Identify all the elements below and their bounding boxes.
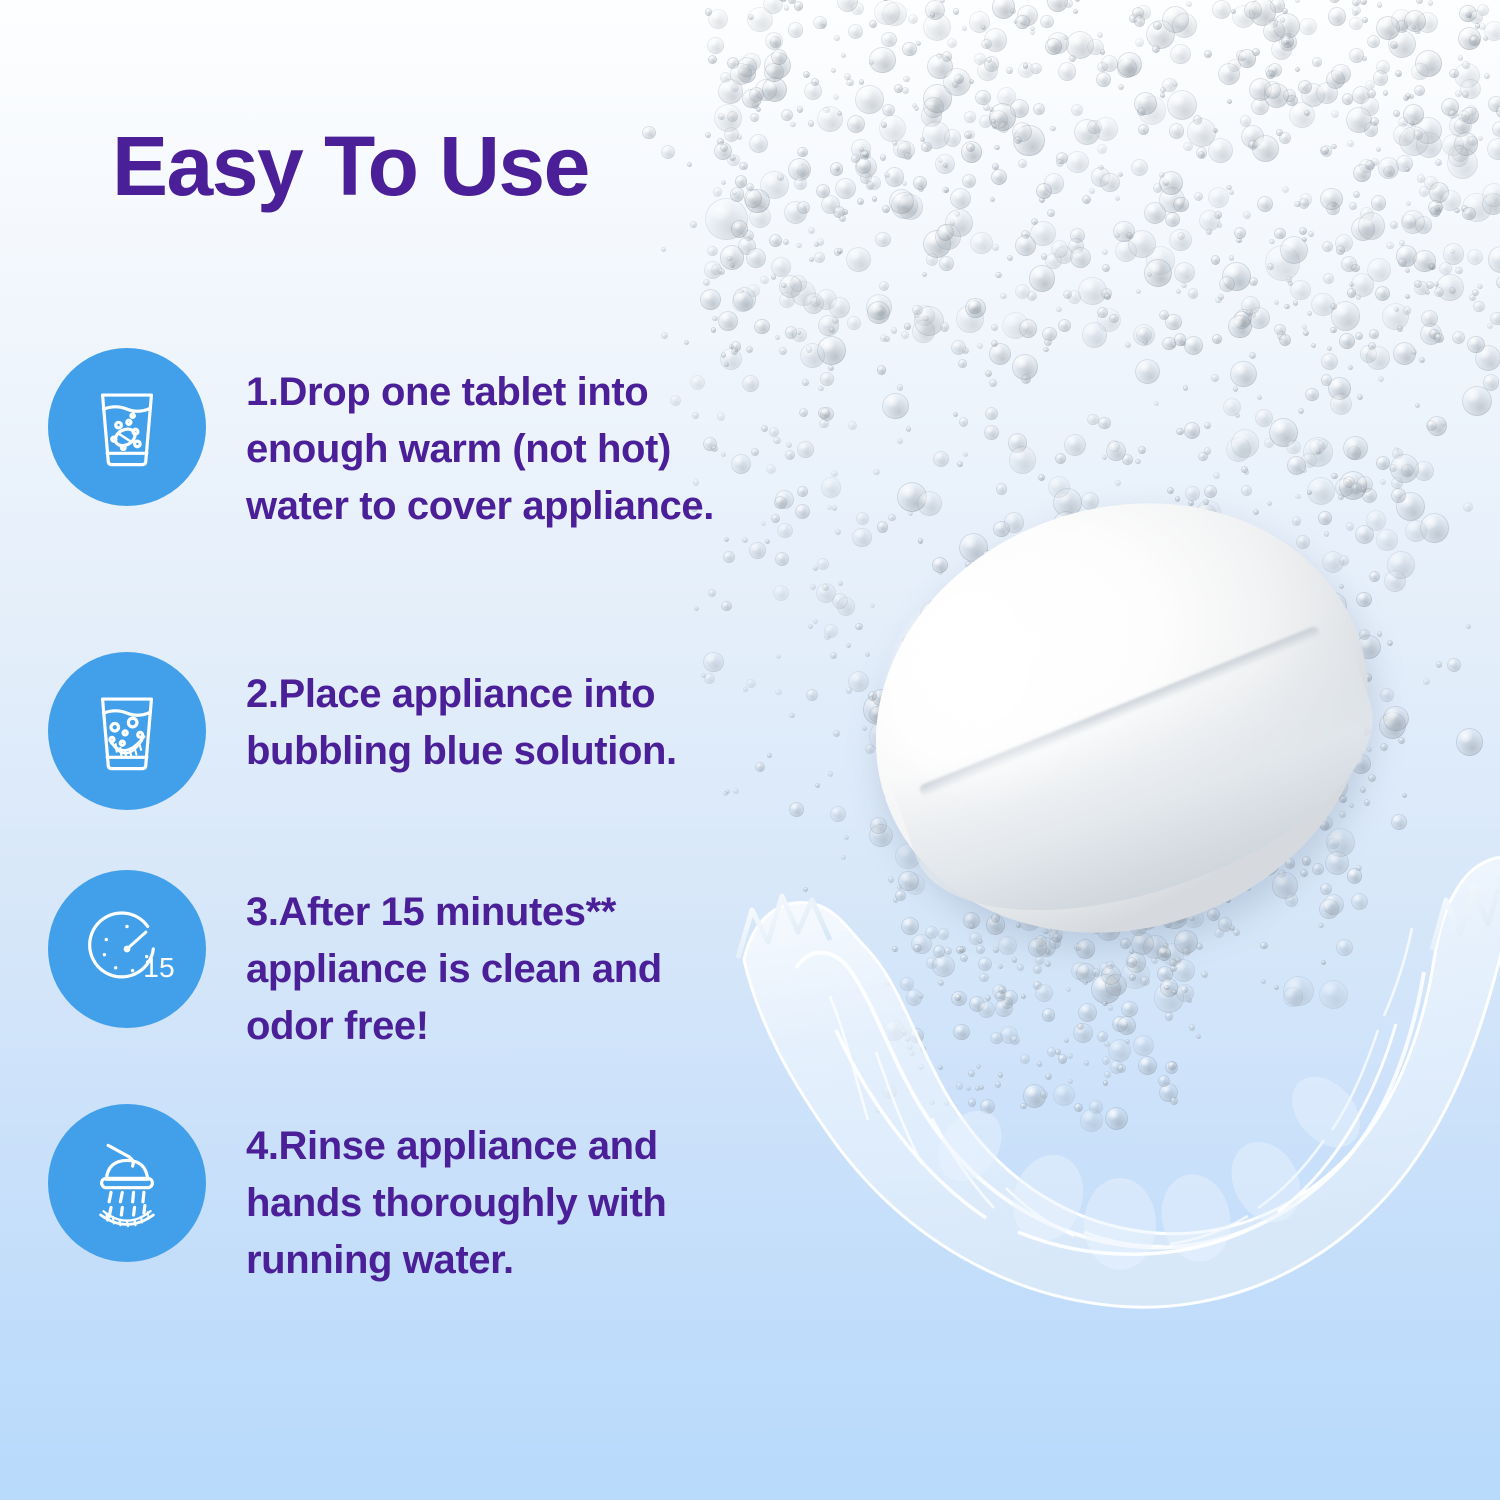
bubble [1219,682,1245,708]
bubble [803,71,810,78]
bubble [991,324,998,331]
bubble [1280,236,1308,264]
bubble [846,247,871,272]
bubble [834,35,839,40]
bubble [1393,124,1415,146]
bubble [1179,847,1184,852]
bubble [953,717,966,730]
bubble [1115,240,1137,262]
bubble [1319,980,1348,1009]
bubble [1032,729,1038,735]
bubble [1160,826,1180,846]
bubble [1104,1071,1110,1077]
bubble [962,849,983,870]
bubble [1355,696,1363,704]
bubble [1016,883,1030,897]
bubble [1383,90,1388,95]
bubble [1248,711,1269,732]
bubble [1326,202,1340,216]
bubble [1299,198,1309,208]
bubble [1126,603,1132,609]
bubble [1266,70,1275,79]
bubble [1461,107,1478,124]
bubble [1165,878,1170,883]
bubble [1405,268,1410,273]
bubble [1089,188,1095,194]
bubble [1283,89,1295,101]
bubble [1277,331,1286,340]
bubble [1007,872,1021,886]
bubble [1347,140,1353,146]
bubble [943,621,954,632]
bubble [1136,908,1158,930]
step-item-1: 1.Drop one tablet into enough warm (not … [48,348,751,536]
bubble [1167,806,1173,812]
bubble [966,143,975,152]
bubble [901,331,908,338]
bubble [1086,912,1102,928]
bubble [884,791,893,800]
bubble [1126,852,1133,859]
bubble [1108,1005,1114,1011]
bubble [1073,920,1082,929]
bubble [1238,740,1243,745]
bubble [1121,1001,1138,1018]
tablet-score-line [918,626,1321,798]
bubble [1349,803,1354,808]
bubble [945,209,973,237]
bubble [1090,805,1097,812]
bubble [956,946,964,954]
bubble [869,47,895,73]
bubble [959,946,966,953]
bubble [888,514,895,521]
bubble [828,365,834,371]
bubble [1208,560,1214,566]
bubble [795,504,810,519]
bubble [1415,216,1433,234]
bubble [1249,695,1258,704]
bubble [1327,838,1339,850]
bubble [1285,858,1296,869]
bubble [1264,700,1285,721]
bubble [1172,81,1178,87]
bubble [1228,59,1241,72]
bubble [1136,327,1152,343]
bubble [1396,492,1425,521]
bubble [789,713,794,718]
bubble [950,188,971,209]
bubble [884,172,890,178]
bubble [1264,81,1282,99]
bubble [1160,978,1179,997]
bubble [1073,902,1088,917]
bubble [1194,724,1203,733]
bubble [1461,205,1468,212]
bubble [1097,307,1108,318]
bubble [875,1108,880,1113]
bubble [1055,624,1060,629]
bubble [1483,36,1488,41]
bubble [1462,386,1492,416]
bubble [1302,856,1312,866]
bubble [1267,619,1275,627]
bubble [1044,795,1052,803]
bubble [914,106,919,111]
bubble [1173,533,1194,554]
bubble [898,871,918,891]
bubble [1077,1023,1084,1030]
bubble [1153,21,1162,30]
bubble [832,317,839,324]
bubble [1352,11,1357,16]
bubble [1133,653,1161,681]
bubble [1352,86,1370,104]
bubble [1411,349,1417,355]
bubble [1046,811,1071,836]
bubble [1015,15,1030,30]
bubble [1071,834,1082,845]
bubble [1302,324,1308,330]
bubble [1447,148,1478,179]
bubble [1299,227,1307,235]
bubble [1239,810,1244,815]
bubble [1179,749,1184,754]
bubble [1174,262,1195,283]
bubble [1327,750,1345,768]
bubble [923,13,951,41]
bubble [1463,502,1473,512]
bubble [1229,574,1251,596]
bubble [1287,456,1306,475]
bubble [1037,822,1053,838]
bubble [1126,952,1147,973]
bubble [1348,365,1353,370]
bubble [1209,780,1214,785]
bubble [918,766,941,789]
bubble [953,813,973,833]
bubble [1441,421,1446,426]
bubble [1060,803,1065,808]
bubble [813,619,818,624]
bubble [1157,946,1172,961]
bubble [1087,39,1104,56]
bubble [1364,799,1371,806]
bubble [1068,751,1080,763]
bubble [1131,159,1148,176]
bubble [1347,446,1361,460]
bubble [1211,255,1221,265]
bubble [808,624,813,629]
bubble [1369,571,1380,582]
bubble [1045,612,1051,618]
bubble [885,980,890,985]
step-3-text: 3.After 15 minutes** appliance is clean … [246,870,751,1056]
bubble [1285,893,1299,907]
bubble [1223,698,1241,716]
bubble [1359,159,1373,173]
bubble [1209,845,1231,867]
bubble [1187,998,1192,1003]
bubble [1321,353,1338,370]
bubble [1228,315,1251,338]
bubble [1379,712,1406,739]
bubble [1055,843,1065,853]
bubble [1125,848,1136,859]
bubble [1029,265,1056,292]
bubble [1048,543,1071,566]
bubble [1192,863,1203,874]
bubble [1196,706,1217,727]
bubble [1083,597,1089,603]
bubble [1097,1031,1108,1042]
bubble [1050,126,1055,131]
bubble [797,486,808,497]
bubble [1052,674,1059,681]
bubble [834,248,842,256]
bubble [1010,8,1016,14]
bubble [995,991,1006,1002]
bubble [1201,669,1210,678]
bubble [1239,709,1250,720]
bubble [1050,924,1059,933]
bubble [1430,206,1441,217]
bubble [1394,447,1399,452]
bubble [1164,837,1188,861]
bubble [1313,585,1320,592]
bubble [901,1029,908,1036]
bubble [1253,555,1264,566]
page-title: Easy To Use [112,124,589,208]
bubble [1359,724,1371,736]
bubble [922,742,932,752]
bubble [1223,398,1241,416]
bubble [891,192,918,219]
bubble [1269,418,1298,447]
bubble [1176,572,1181,577]
bubble [1311,718,1340,747]
bubble [928,602,934,608]
bubble [1121,961,1150,990]
bubble [1068,1079,1073,1084]
bubble [1204,485,1217,498]
bubble [942,51,952,61]
bubble [796,243,801,248]
bubble [1036,183,1052,199]
bubble [966,741,978,753]
bubble [1175,957,1180,962]
bubble [1264,784,1270,790]
bubble [979,115,992,128]
bubble [1246,755,1255,764]
bubble [1064,434,1086,456]
bubble [1041,253,1047,259]
bubble [1080,922,1085,927]
bubble [1271,39,1293,61]
bubble [1290,280,1311,301]
bubble [991,119,996,124]
bubble [885,167,905,187]
bubble [833,730,840,737]
bubble [1240,115,1251,126]
bubble [1202,603,1208,609]
bubble [1289,102,1315,128]
bubble [1434,282,1439,287]
bubble [918,1064,924,1070]
bubble [1405,294,1410,299]
bubble [1128,230,1156,258]
bubble [1048,805,1053,810]
bubble [1129,974,1136,981]
bubble [1414,85,1425,96]
bubble [909,1028,924,1043]
bubble [1071,694,1079,702]
bubble [912,777,929,794]
bubble [1362,488,1377,503]
bubble [1343,436,1367,460]
bubble [1059,761,1071,773]
bubble [969,932,982,945]
bubble [1018,159,1027,168]
bubble [1078,1003,1097,1022]
bubble [1151,535,1174,558]
bubble [1334,720,1339,725]
bubble [1143,896,1149,902]
bubble [1001,997,1013,1009]
bubble [1012,561,1032,581]
bubble [1204,447,1211,454]
bubble [991,847,1018,874]
bubble [1063,290,1072,299]
bubble [1329,0,1340,3]
bubble [1075,728,1096,749]
bubble [906,426,912,432]
bubble [1370,117,1379,126]
bubble [1246,637,1252,643]
bubble [1126,909,1134,917]
bubble [1045,961,1051,967]
bubble [1234,227,1246,239]
bubble [1213,722,1224,733]
bubble [1064,0,1073,8]
bubble [1346,522,1355,531]
bubble [1039,603,1049,613]
bubble [1096,72,1111,87]
bubble [1063,856,1079,872]
bubble [1170,1097,1178,1105]
bubble [1135,359,1160,384]
bubble [1052,933,1062,943]
bubble [974,53,986,65]
bubble [847,316,860,329]
bubble [989,103,1016,130]
bubble [800,343,825,368]
bubble [1343,718,1348,723]
bubble [940,810,947,817]
bubble [1357,394,1363,400]
bubble [1365,80,1375,90]
bubble [1133,324,1155,346]
bubble [1310,657,1315,662]
bubble [1168,1061,1176,1069]
bubble [1410,121,1415,126]
bubble [1068,238,1084,254]
bubble [1058,911,1071,924]
bubble [1171,658,1199,686]
bubble [1367,258,1391,282]
bubble [1099,962,1113,976]
bubble [810,296,821,307]
bubble [1388,30,1416,58]
bubble [1200,902,1205,907]
bubble [1257,712,1267,722]
bubble [1414,461,1434,481]
bubble [1211,550,1226,565]
bubble [1023,63,1028,68]
bubble [1307,311,1312,316]
bubble [1241,842,1258,859]
bubble [818,315,838,335]
bubble [1043,929,1049,935]
bubble [968,588,998,618]
bubble [906,989,922,1005]
bubble [916,728,928,740]
bubble [1484,21,1500,41]
bubble [1343,476,1355,488]
bubble [863,152,869,158]
bubble [1336,245,1346,255]
bubble [1482,193,1500,216]
bubble [1248,140,1258,150]
bubble [940,0,945,3]
bubble [1255,758,1280,783]
bubble [1304,658,1322,676]
bubble [1320,689,1325,694]
bubble [956,1082,963,1089]
bubble [883,1020,904,1041]
bubble [1235,413,1240,418]
bubble [1375,286,1390,301]
bubble [1082,322,1107,347]
bubble [1055,1049,1060,1054]
bubble [957,815,972,830]
bubble [1165,314,1181,330]
bubble [978,617,985,624]
bubble [992,618,1002,628]
bubble [1149,676,1162,689]
bubble [1053,1084,1075,1106]
bubble [1276,658,1301,683]
bubble [1255,665,1265,675]
bubble [1183,142,1193,152]
step-item-2: 2.Place appliance into bubbling blue sol… [48,652,751,810]
bubble [1327,346,1332,351]
bubble [950,598,955,603]
bubble [998,986,1006,994]
bubble [1295,0,1300,3]
bubble [1066,675,1080,689]
bubble [1224,880,1231,887]
bubble [1196,147,1207,158]
bubble [1140,670,1145,675]
bubble [1383,715,1389,721]
bubble [888,876,895,883]
bubble [1378,376,1384,382]
bubble [1004,762,1032,790]
bubble [1215,820,1227,832]
bubble [1043,901,1048,906]
bubble [1231,9,1236,14]
